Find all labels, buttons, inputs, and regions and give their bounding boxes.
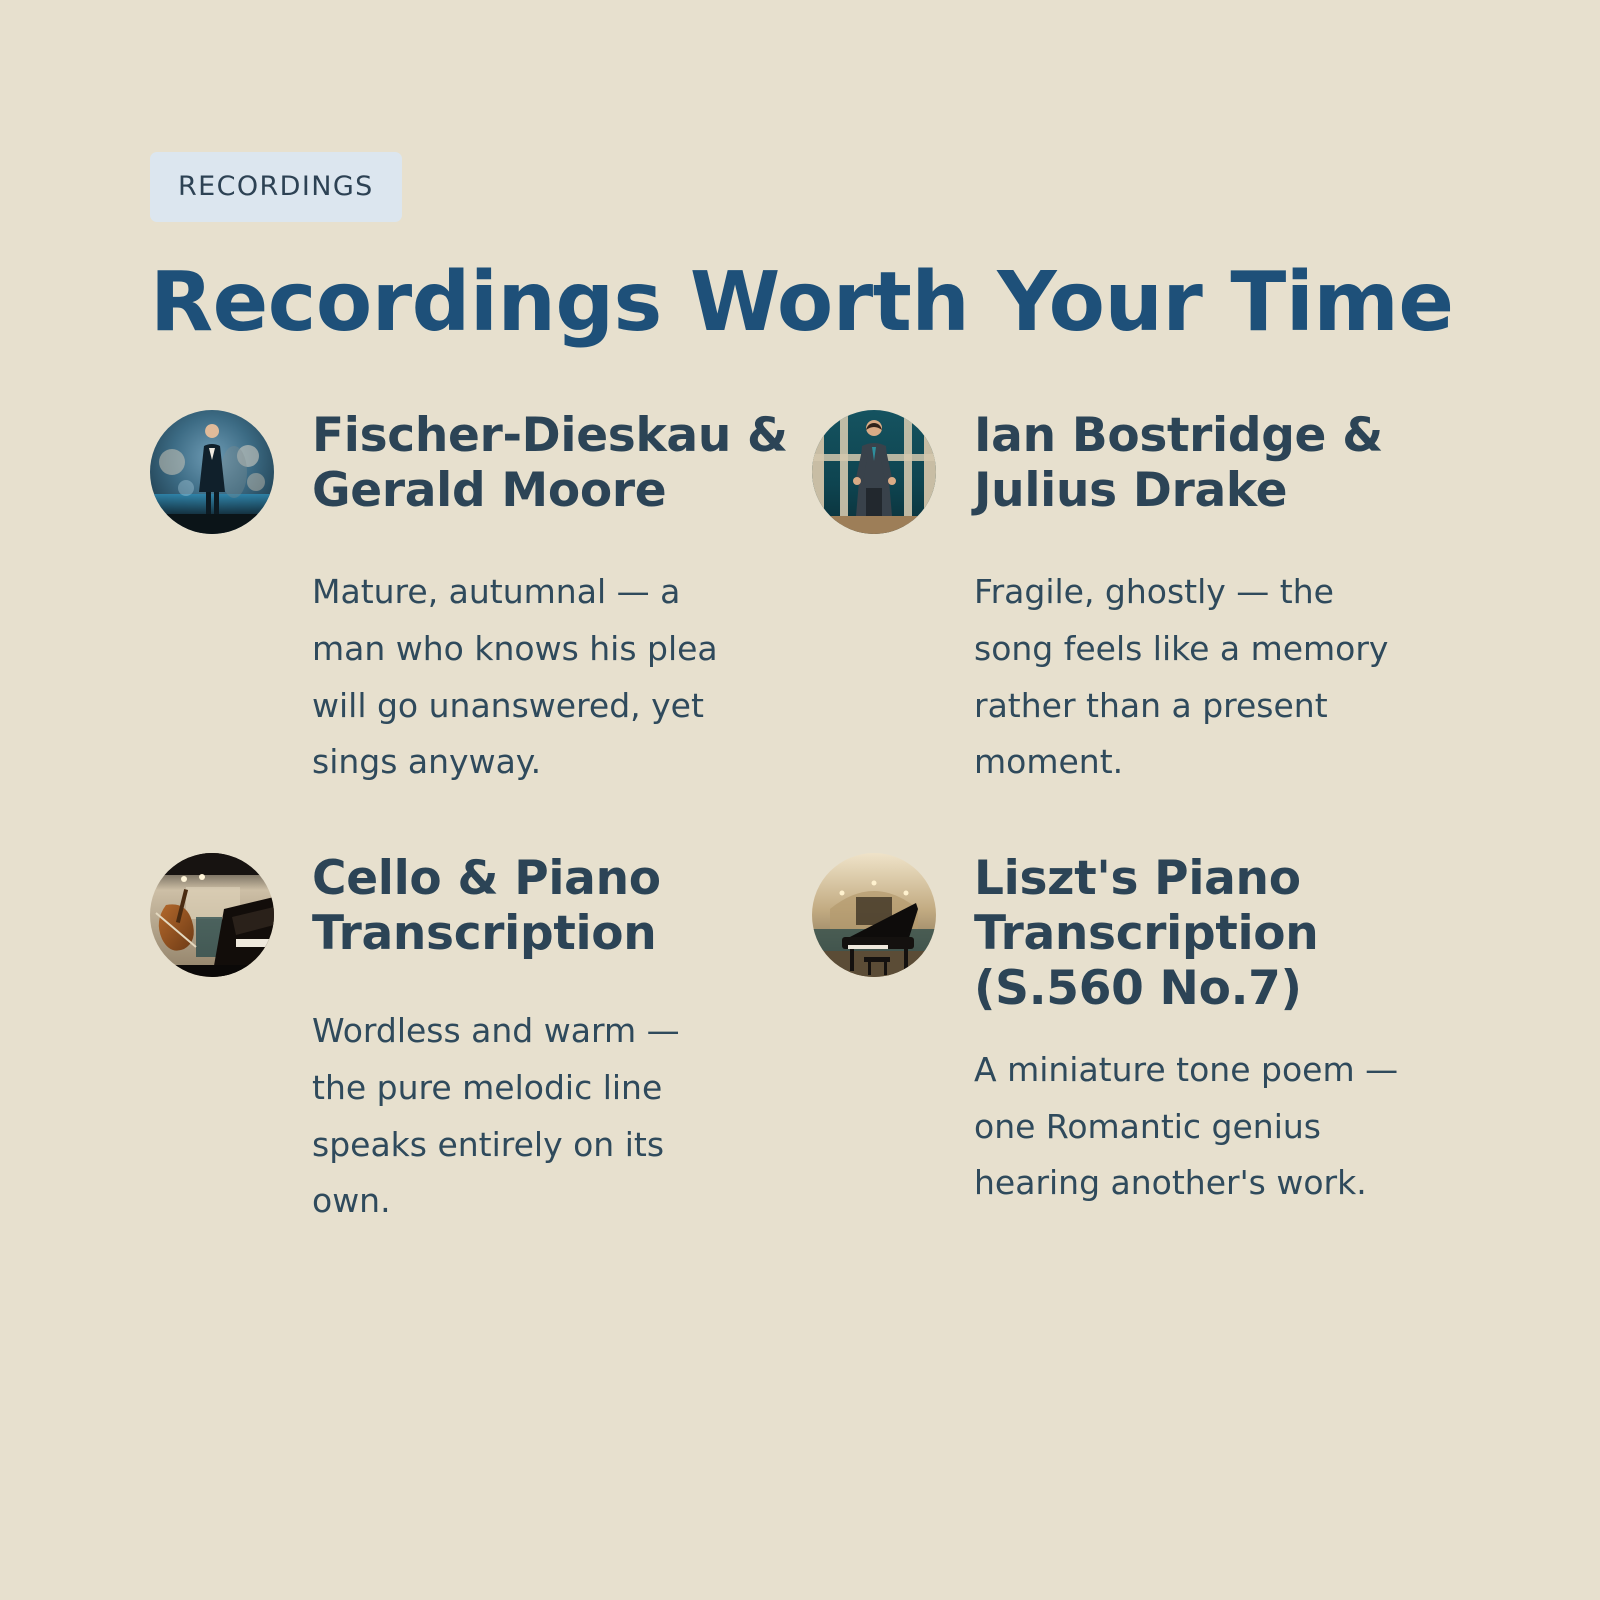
card-title: Liszt's Piano Transcription (S.560 No.7) xyxy=(974,849,1452,1016)
card-description: A miniature tone poem — one Romantic gen… xyxy=(974,1042,1404,1212)
baritone-on-blue-lit-stage-photo xyxy=(150,410,274,534)
grand-piano-on-concert-hall-stage-photo xyxy=(812,853,936,977)
card-title: Cello & Piano Transcription xyxy=(312,849,790,961)
page-title: Recordings Worth Your Time xyxy=(150,262,1450,344)
card-description: Mature, autumnal — a man who knows his p… xyxy=(312,564,742,791)
recording-card[interactable]: Liszt's Piano Transcription (S.560 No.7)… xyxy=(812,849,1452,1230)
card-description: Fragile, ghostly — the song feels like a… xyxy=(974,564,1404,791)
card-header: Liszt's Piano Transcription (S.560 No.7) xyxy=(812,849,1452,1016)
tenor-singing-before-teal-backdrop-photo xyxy=(812,410,936,534)
card-header: Ian Bostridge & Julius Drake xyxy=(812,406,1452,534)
recording-card[interactable]: Fischer-Dieskau & Gerald Moore Mature, a… xyxy=(150,406,790,791)
card-title: Fischer-Dieskau & Gerald Moore xyxy=(312,406,790,518)
card-header: Fischer-Dieskau & Gerald Moore xyxy=(150,406,790,534)
recordings-page: RECORDINGS Recordings Worth Your Time xyxy=(0,0,1600,1600)
recording-card[interactable]: Ian Bostridge & Julius Drake Fragile, gh… xyxy=(812,406,1452,791)
section-eyebrow-badge: RECORDINGS xyxy=(150,152,402,222)
recordings-grid: Fischer-Dieskau & Gerald Moore Mature, a… xyxy=(150,406,1450,1230)
card-header: Cello & Piano Transcription xyxy=(150,849,790,977)
recording-card[interactable]: Cello & Piano Transcription Wordless and… xyxy=(150,849,790,1230)
card-title: Ian Bostridge & Julius Drake xyxy=(974,406,1452,518)
card-description: Wordless and warm — the pure melodic lin… xyxy=(312,1003,742,1230)
cello-and-grand-piano-in-hall-photo xyxy=(150,853,274,977)
